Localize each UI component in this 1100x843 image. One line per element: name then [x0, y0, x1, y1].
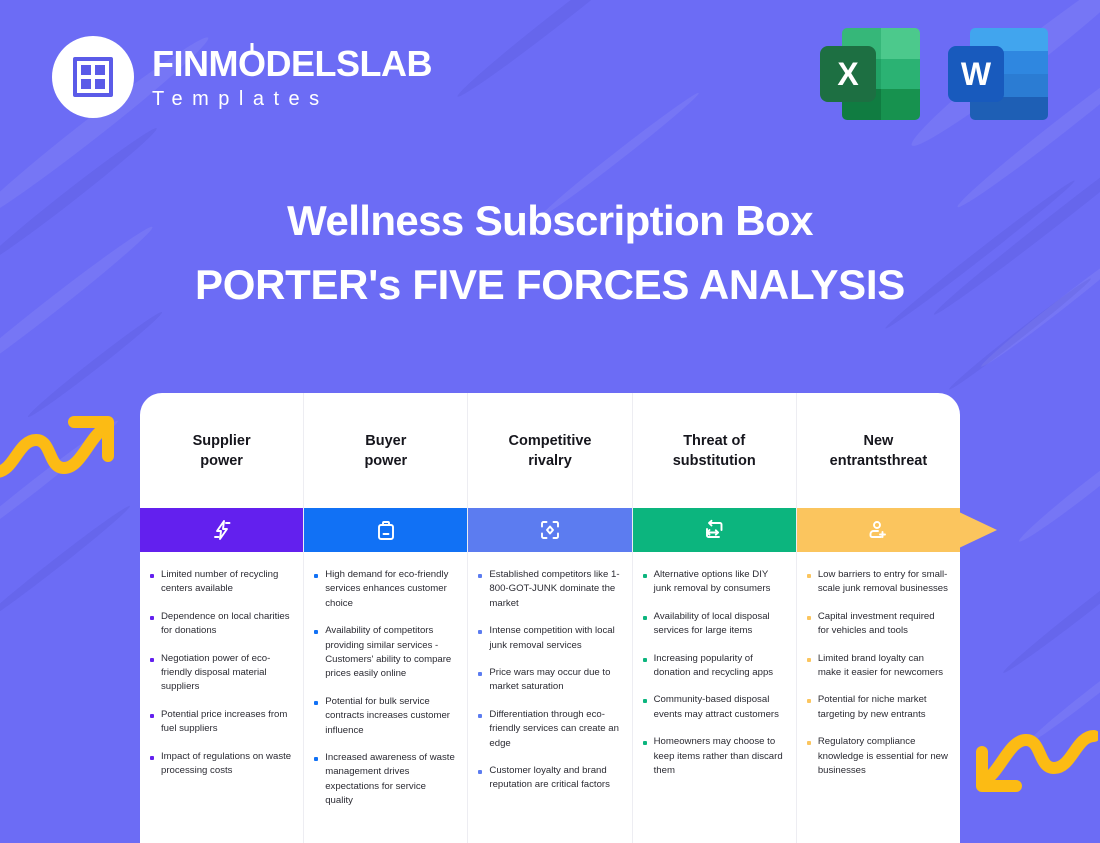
list-item: Alternative options like DIY junk remova…	[643, 568, 784, 597]
list-item: Homeowners may choose to keep items rath…	[643, 735, 784, 778]
briefcase-icon	[304, 508, 467, 552]
list-item: Intense competition with local junk remo…	[478, 624, 619, 653]
bullet-dot	[807, 616, 811, 620]
bullet-dot	[478, 714, 482, 718]
force-column-supplier-power: Supplier power Limited number of recycli…	[140, 393, 304, 843]
column-header-line2: rivalry	[509, 451, 592, 471]
column-header-line2: substitution	[673, 451, 756, 471]
column-points-threat-of-substitution: Alternative options like DIY junk remova…	[633, 552, 796, 843]
bullet-dot	[643, 699, 647, 703]
list-item: Capital investment required for vehicles…	[807, 610, 948, 639]
column-header-new-entrants-threat: New entrantsthreat	[797, 393, 960, 508]
list-item: Availability of competitors providing si…	[314, 624, 455, 682]
grid-logo-icon	[52, 36, 134, 118]
bullet-dot	[807, 741, 811, 745]
bullet-dot	[314, 630, 318, 634]
list-item: Low barriers to entry for small-scale ju…	[807, 568, 948, 597]
column-header-line2: entrantsthreat	[830, 451, 928, 471]
list-item: Availability of local disposal services …	[643, 610, 784, 639]
bullet-dot	[807, 699, 811, 703]
focus-target-icon	[468, 508, 631, 552]
page-subtitle: PORTER's FIVE FORCES ANALYSIS	[0, 260, 1100, 310]
column-header-line2: power	[364, 451, 407, 471]
list-item: High demand for eco-friendly services en…	[314, 568, 455, 611]
bullet-dot	[150, 658, 154, 662]
excel-icon[interactable]: X	[820, 28, 920, 120]
excel-letter: X	[820, 46, 876, 102]
column-points-new-entrants-threat: Low barriers to entry for small-scale ju…	[797, 552, 960, 843]
brand-logo[interactable]: FINMODELSLAB Templates	[52, 36, 432, 118]
bullet-dot	[643, 616, 647, 620]
bullet-dot	[478, 574, 482, 578]
list-item: Customer loyalty and brand reputation ar…	[478, 764, 619, 793]
bullet-dot	[643, 658, 647, 662]
list-item: Negotiation power of eco-friendly dispos…	[150, 652, 291, 695]
column-points-buyer-power: High demand for eco-friendly services en…	[304, 552, 467, 843]
force-column-buyer-power: Buyer power High demand for eco-friendly…	[304, 393, 468, 843]
force-column-threat-of-substitution: Threat of substitution Alternative optio…	[633, 393, 797, 843]
list-item: Increasing popularity of donation and re…	[643, 652, 784, 681]
list-item: Community-based disposal events may attr…	[643, 693, 784, 722]
list-item: Limited number of recycling centers avai…	[150, 568, 291, 597]
bullet-dot	[478, 770, 482, 774]
bullet-dot	[150, 574, 154, 578]
bullet-dot	[807, 574, 811, 578]
bullet-dot	[478, 630, 482, 634]
page-title-block: Wellness Subscription Box PORTER's FIVE …	[0, 196, 1100, 309]
list-item: Potential for bulk service contracts inc…	[314, 695, 455, 738]
list-item: Potential price increases from fuel supp…	[150, 708, 291, 737]
bullet-dot	[314, 701, 318, 705]
exchange-arrows-icon	[633, 508, 796, 552]
bullet-dot	[643, 574, 647, 578]
list-item: Increased awareness of waste management …	[314, 751, 455, 809]
brand-name: FINMODELSLAB	[152, 46, 432, 82]
add-user-icon	[797, 508, 960, 552]
column-header-line2: power	[193, 451, 251, 471]
lightning-bolt-icon	[140, 508, 303, 552]
bullet-dot	[150, 616, 154, 620]
bullet-dot	[807, 658, 811, 662]
squiggle-arrow-down-left-icon	[968, 722, 1098, 807]
band-arrow-tip	[959, 508, 999, 552]
column-points-supplier-power: Limited number of recycling centers avai…	[140, 552, 303, 843]
column-header-line1: Threat of	[673, 431, 756, 451]
column-header-competitive-rivalry: Competitive rivalry	[468, 393, 631, 508]
bullet-dot	[478, 672, 482, 676]
column-header-line1: New	[830, 431, 928, 451]
force-column-new-entrants-threat: New entrantsthreat Low barriers to entry…	[797, 393, 960, 843]
column-header-line1: Competitive	[509, 431, 592, 451]
word-icon[interactable]: W	[948, 28, 1048, 120]
list-item: Limited brand loyalty can make it easier…	[807, 652, 948, 681]
list-item: Impact of regulations on waste processin…	[150, 750, 291, 779]
squiggle-arrow-up-right-icon	[0, 406, 122, 491]
list-item: Regulatory compliance knowledge is essen…	[807, 735, 948, 778]
page-header: FINMODELSLAB Templates X W	[0, 0, 1100, 150]
word-letter: W	[948, 46, 1004, 102]
force-column-competitive-rivalry: Competitive rivalry Established competit…	[468, 393, 632, 843]
column-header-buyer-power: Buyer power	[304, 393, 467, 508]
column-header-threat-of-substitution: Threat of substitution	[633, 393, 796, 508]
list-item: Price wars may occur due to market satur…	[478, 666, 619, 695]
list-item: Potential for niche market targeting by …	[807, 693, 948, 722]
brand-tagline: Templates	[152, 89, 432, 109]
bullet-dot	[150, 756, 154, 760]
bullet-dot	[314, 574, 318, 578]
bullet-dot	[150, 714, 154, 718]
column-header-supplier-power: Supplier power	[140, 393, 303, 508]
list-item: Established competitors like 1-800-GOT-J…	[478, 568, 619, 611]
list-item: Dependence on local charities for donati…	[150, 610, 291, 639]
file-format-badges: X W	[820, 28, 1048, 120]
column-header-line1: Supplier	[193, 431, 251, 451]
porters-five-forces-table: Supplier power Limited number of recycli…	[140, 393, 960, 843]
list-item: Differentiation through eco-friendly ser…	[478, 708, 619, 751]
column-header-line1: Buyer	[364, 431, 407, 451]
bullet-dot	[643, 741, 647, 745]
bullet-dot	[314, 757, 318, 761]
column-points-competitive-rivalry: Established competitors like 1-800-GOT-J…	[468, 552, 631, 843]
page-title: Wellness Subscription Box	[0, 196, 1100, 246]
